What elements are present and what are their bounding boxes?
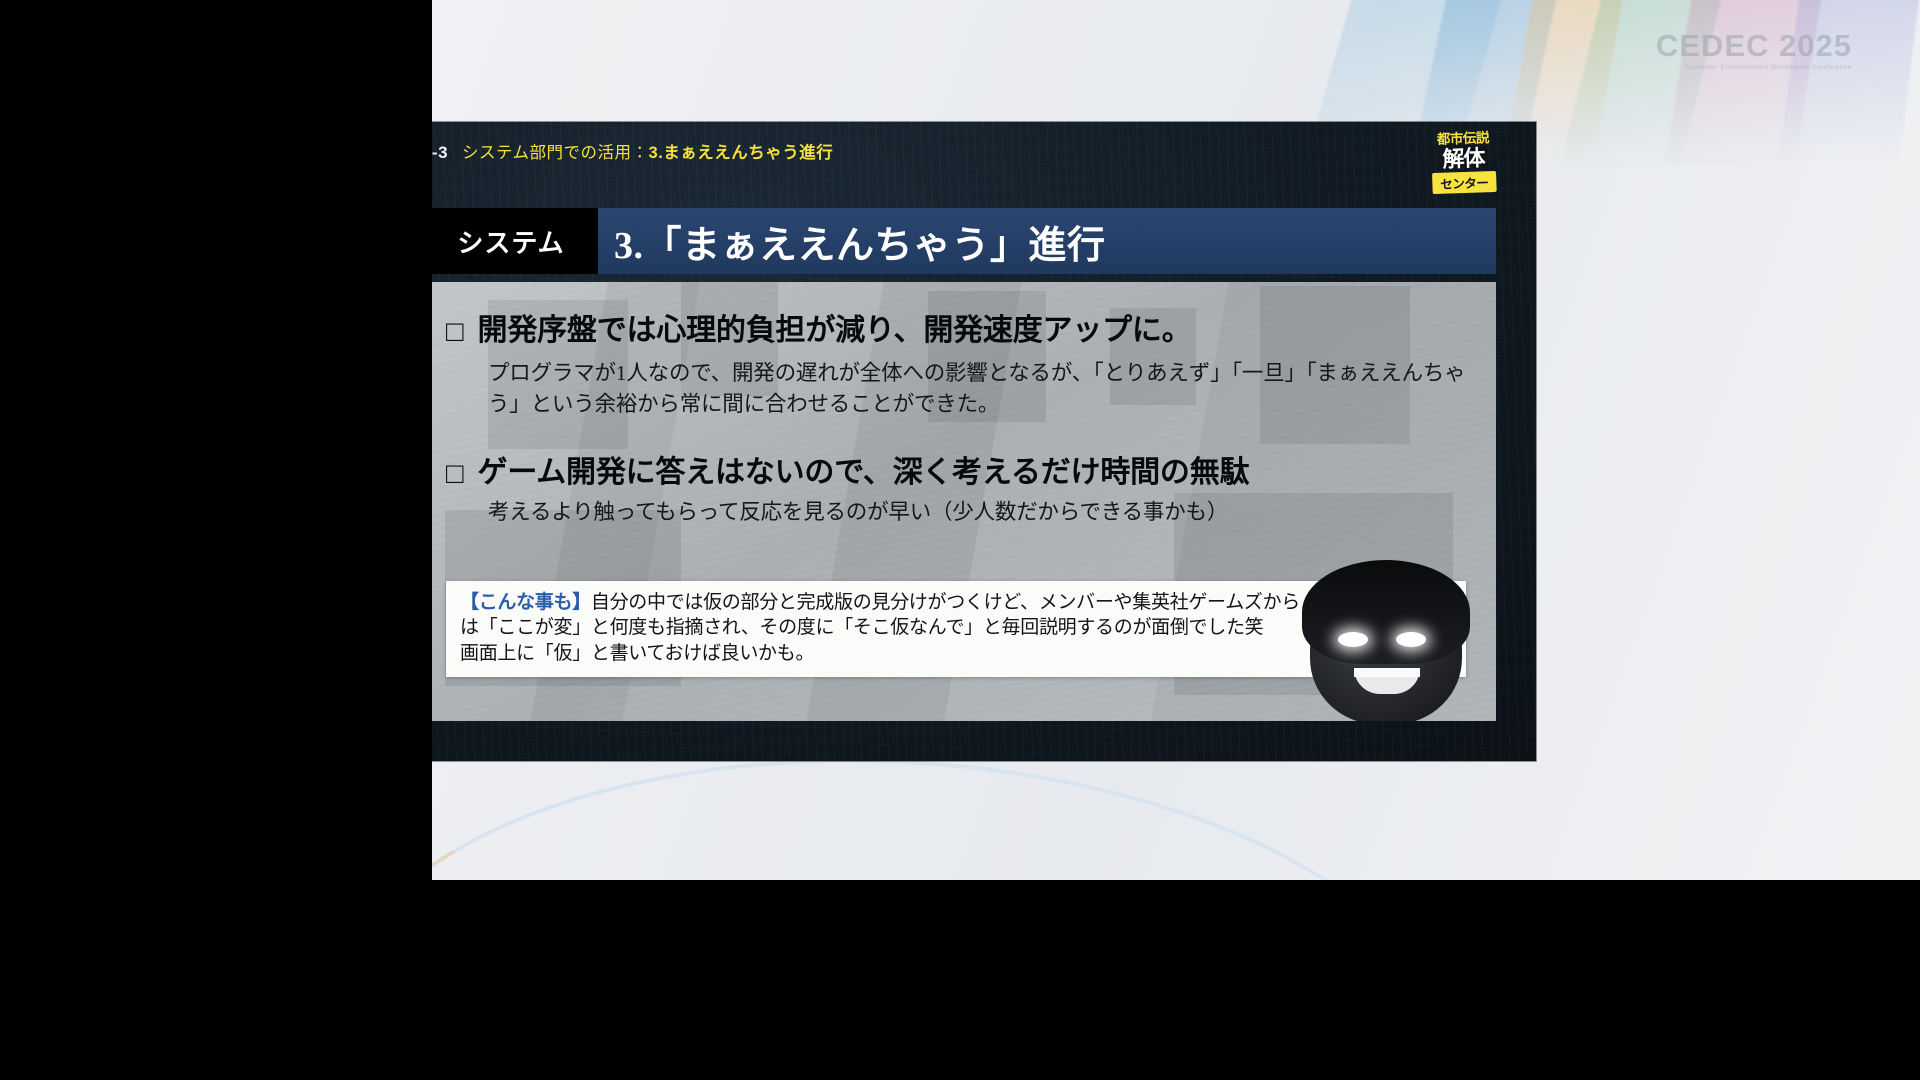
stage-left-mask: [0, 0, 432, 880]
bullet-item: □ ゲーム開発に答えはないので、深く考えるだけ時間の無駄: [446, 454, 1466, 492]
presenter-avatar-overlay: [1296, 556, 1478, 721]
slide-header-section: システム部門での活用：: [462, 144, 649, 162]
slide-content: □ 開発序盤では心理的負担が減り、開発速度アップに。 プログラマが1人なので、開…: [424, 282, 1496, 529]
brush-stroke-decor: [1665, 0, 1825, 165]
bullet-detail: プログラマが1人なので、開発の遅れが全体への影響となるが、「とりあえず」「一旦」…: [488, 358, 1466, 420]
program-stamp-logo: 都市伝説 解体 センター: [1411, 130, 1518, 214]
brush-stroke-decor: [1779, 0, 1920, 160]
slide-header-topic: 3.まぁええんちゃう進行: [649, 144, 834, 162]
slide-body-panel: □ 開発序盤では心理的負担が減り、開発速度アップに。 プログラマが1人なので、開…: [424, 282, 1496, 721]
slide-title-tag: システム: [424, 208, 598, 274]
callout-tag: 【こんな事も】: [460, 592, 591, 613]
stamp-line-3: センター: [1432, 171, 1497, 194]
bullet-item: □ 開発序盤では心理的負担が減り、開発速度アップに。: [446, 312, 1466, 350]
brush-stroke-decor: [1560, 0, 1730, 165]
callout-line-1-text: 自分の中では仮の部分と完成版の見分けがつくけど、メンバーや集英社ゲームズから: [591, 592, 1300, 613]
letterbox-bar: [0, 880, 1920, 1080]
corner-event-tagline: Computer Entertainment Developers Confer…: [1656, 64, 1852, 71]
avatar-eye-left: [1338, 632, 1368, 647]
slide-title-text: 3.「まぁええんちゃう」進行: [598, 208, 1496, 274]
corner-event-title: CEDEC 2025: [1656, 30, 1852, 61]
slide-header: 13-3 システム部門での活用：3.まぁええんちゃう進行: [412, 139, 833, 163]
broadcast-stage: CEDEC Computer Entertainment Developers …: [0, 0, 1920, 1080]
bullet-heading: ゲーム開発に答えはないので、深く考えるだけ時間の無駄: [478, 454, 1250, 492]
bullet-marker-icon: □: [446, 318, 464, 347]
bullet-heading: 開発序盤では心理的負担が減り、開発速度アップに。: [478, 312, 1192, 350]
avatar-hair: [1302, 560, 1470, 664]
slide-title-band: システム 3.「まぁええんちゃう」進行: [424, 208, 1496, 274]
avatar-eye-right: [1396, 632, 1426, 647]
stamp-line-2: 解体: [1411, 145, 1516, 172]
bullet-detail: 考えるより触ってもらって反応を見るのが早い（少人数だからできる事かも）: [488, 497, 1466, 528]
bullet-marker-icon: □: [446, 460, 464, 489]
presentation-slide: 13-3 システム部門での活用：3.まぁええんちゃう進行 都市伝説 解体 センタ…: [384, 122, 1536, 761]
avatar-teeth: [1354, 668, 1420, 677]
corner-event-logo: CEDEC 2025 Computer Entertainment Develo…: [1656, 30, 1852, 71]
